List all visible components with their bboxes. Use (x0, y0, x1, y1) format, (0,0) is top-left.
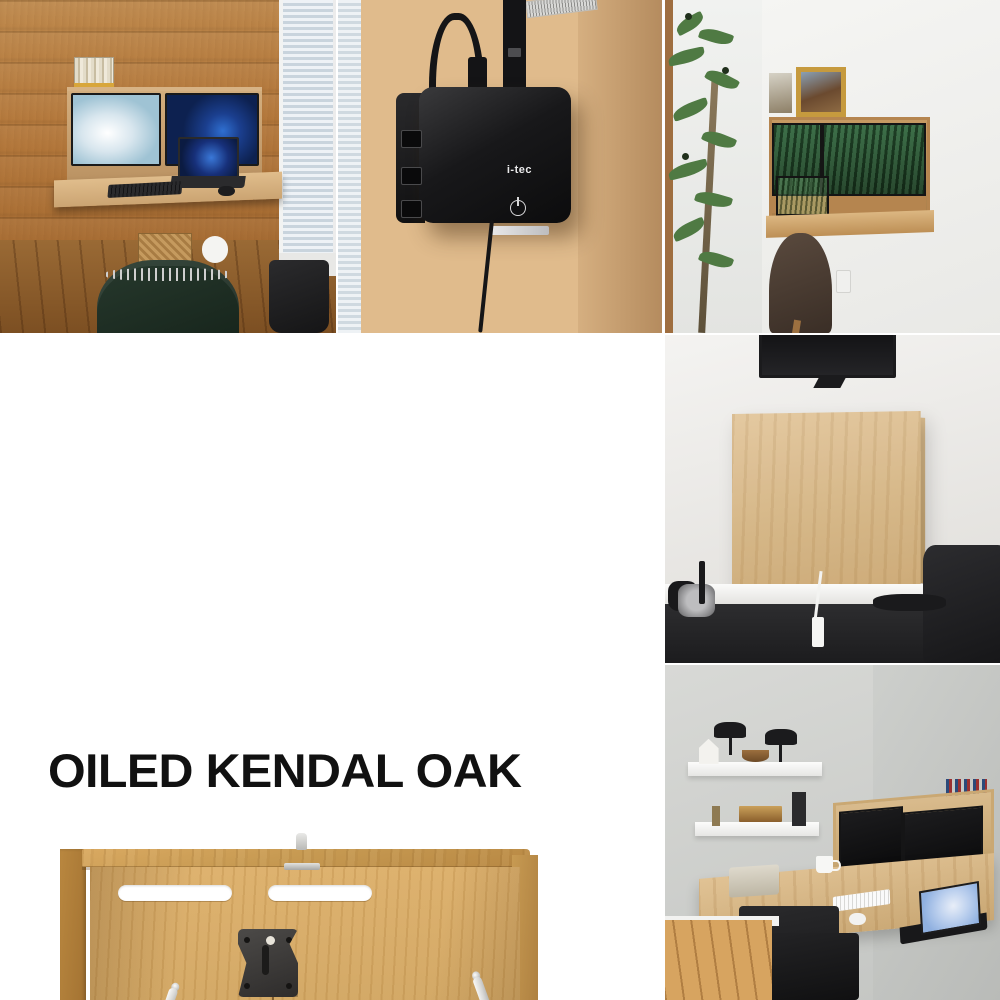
vesa-center-slot (262, 945, 269, 975)
vesa-screw-hole (286, 983, 292, 989)
laptop-screen (776, 176, 830, 216)
coffee-mug (816, 856, 833, 873)
white-room-scene (665, 0, 1000, 333)
oak-panel-shadow (578, 0, 662, 333)
mouse (849, 913, 866, 925)
usb-port-3 (401, 200, 422, 218)
olive-fruit (722, 67, 729, 74)
closed-cabinet-scene (665, 335, 1000, 663)
leather-bag (269, 260, 329, 333)
usb-port-2 (401, 167, 422, 185)
candlestick (712, 806, 720, 826)
hdmi-plug (503, 0, 526, 93)
monitor-left (71, 93, 162, 166)
dock-scene: i-tec (338, 0, 662, 333)
docking-station-body (419, 87, 571, 224)
itec-brand-logo: i-tec (490, 160, 548, 180)
page-title: OILED KENDAL OAK (48, 747, 521, 794)
chair-armrest (873, 594, 947, 610)
vesa-monitor-mount-plate (238, 929, 298, 997)
window-blinds (279, 0, 336, 260)
hero-panel: OILED KENDAL OAK (0, 335, 663, 1000)
lamp-shade (765, 729, 797, 745)
olive-fruit (682, 153, 689, 160)
book-stack (739, 806, 783, 823)
lamp-shade (714, 722, 746, 738)
window-blinds-edge (338, 0, 361, 333)
weight-plates (678, 584, 715, 617)
vesa-screw-hole (244, 937, 250, 943)
tv-mount-arm (813, 378, 845, 388)
upholstered-stool (729, 864, 779, 898)
wall-outlet (836, 270, 851, 293)
cabinet-left-side (60, 849, 86, 1000)
closed-oak-cabinet (732, 411, 921, 601)
product-collage: Timber cabin home office with fold-down … (0, 0, 1000, 1000)
wall-art-small (769, 73, 792, 113)
top-latch-knob[interactable] (296, 833, 307, 850)
vesa-center-boss (266, 936, 275, 945)
lamp-stem (779, 744, 782, 762)
usb-port-1 (401, 130, 422, 148)
laptop-screen (178, 137, 238, 180)
product-render-fold-down-desk[interactable] (60, 847, 640, 1000)
photo-closed-cabinet[interactable]: Oak desk folded flat and closed against … (665, 335, 1000, 663)
photo-cabin-office[interactable]: Timber cabin home office with fold-down … (0, 0, 336, 333)
photo-white-room-desk[interactable]: White walled nook with olive tree, oak w… (665, 0, 1000, 333)
table-lamp-left (725, 722, 735, 756)
vesa-screw-hole (244, 983, 250, 989)
photo-itec-dock[interactable]: i-tec Black i-tec USB-C docking station … (338, 0, 662, 333)
wall-tv (759, 335, 896, 378)
power-brick (812, 617, 824, 647)
wood-floor (665, 920, 772, 1000)
photo-grey-room-desk[interactable]: Grey study with floating shelves, extend… (665, 665, 1000, 1000)
wooden-bowl (742, 750, 769, 762)
monitor-right (822, 123, 926, 196)
brown-armchair (769, 233, 833, 333)
green-leather-chair (97, 260, 238, 333)
lamp-stem (729, 737, 732, 755)
barbell-handle (699, 561, 706, 604)
status-led-strip (490, 226, 548, 235)
grey-room-scene (665, 665, 1000, 1000)
table-lamp-right (776, 729, 786, 763)
floating-shelf-upper (688, 762, 822, 775)
cable-entry-slot-left (118, 885, 232, 901)
cable-entry-slot-right (268, 885, 372, 901)
cabin-scene (0, 0, 336, 333)
black-chair-front (769, 933, 859, 1000)
door-jamb (665, 0, 673, 333)
standing-book (792, 792, 805, 826)
gold-picture-frame (796, 67, 846, 117)
book-stack (74, 57, 114, 87)
latch-plate (284, 863, 320, 870)
